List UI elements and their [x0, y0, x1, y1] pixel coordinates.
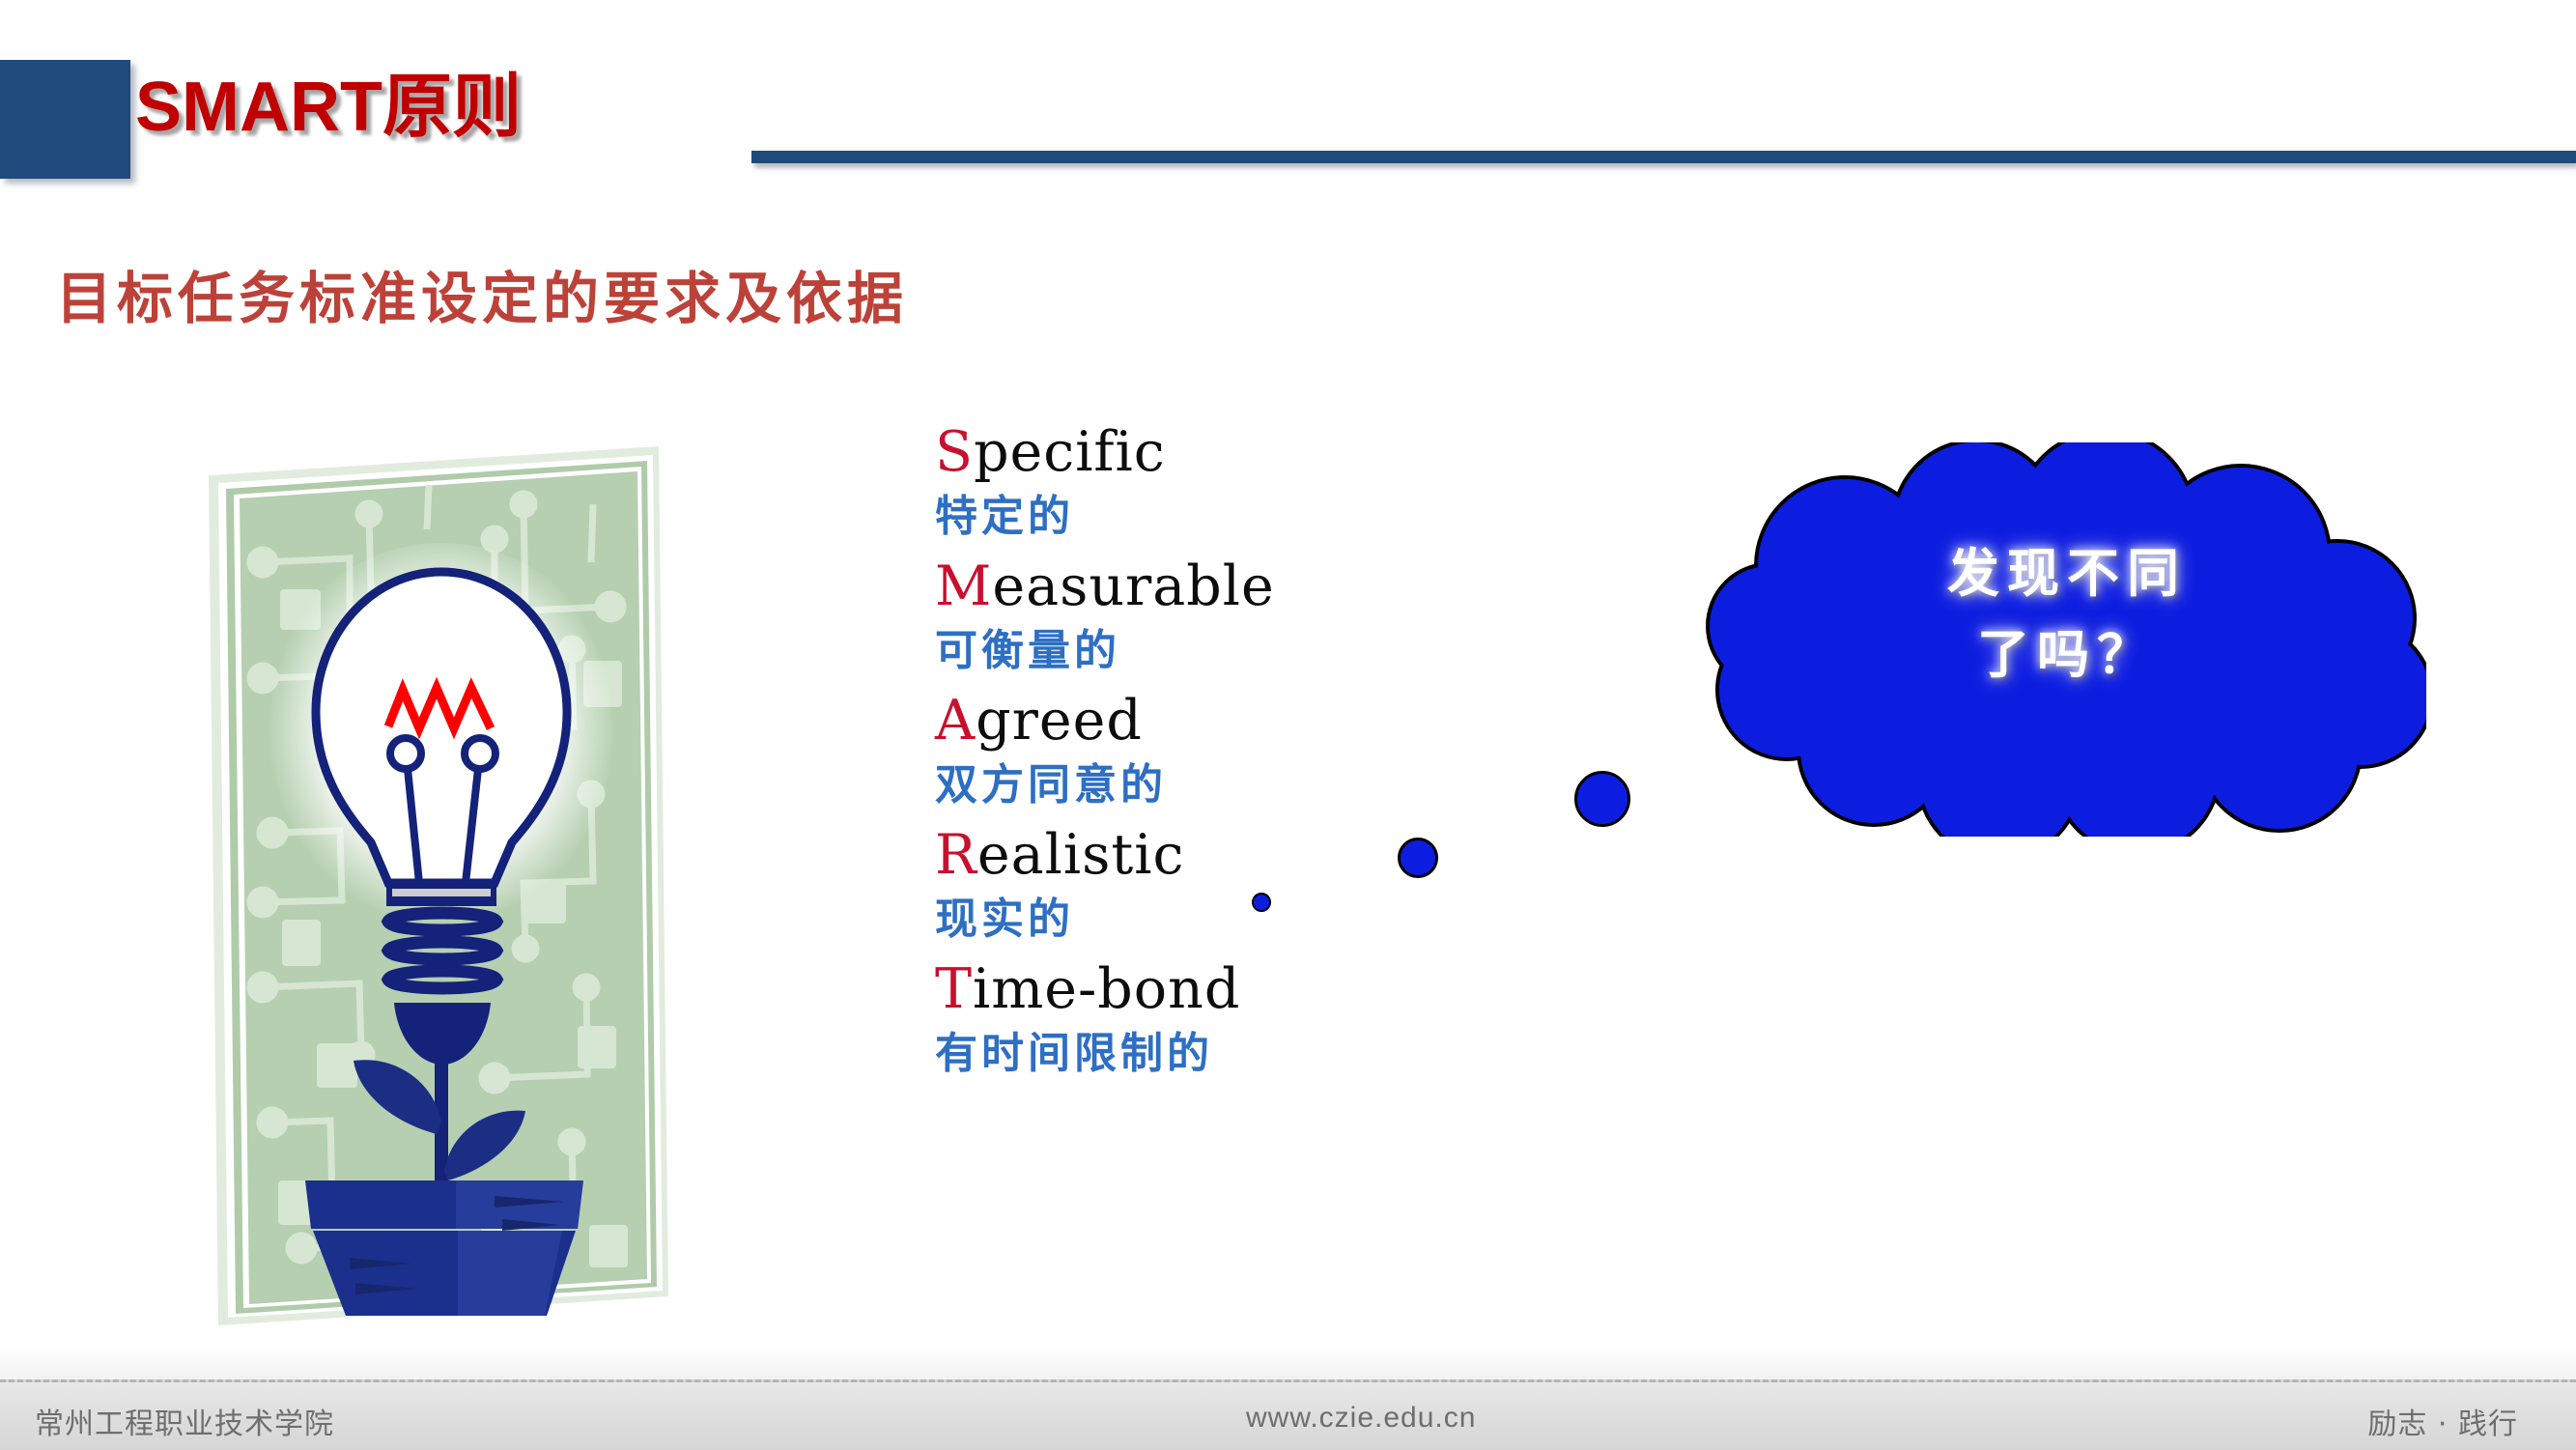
smart-item-chinese: 可衡量的 [935, 630, 1399, 672]
smart-word-rest: easurable [992, 554, 1274, 618]
smart-principle-list: Specific 特定的 Measurable 可衡量的 Agreed 双方同意… [935, 425, 1399, 1096]
footer-institution-name: 常州工程职业技术学院 [35, 1400, 334, 1442]
smart-item-chinese: 现实的 [935, 898, 1399, 941]
smart-initial-letter: R [935, 823, 977, 887]
subtitle-heading: 目标任务标准设定的要求及依据 [56, 270, 908, 327]
smart-item-chinese: 特定的 [935, 496, 1399, 538]
header-accent-square [0, 60, 130, 179]
smart-item-english: Agreed [935, 694, 1399, 749]
smart-word-rest: ime-bond [973, 957, 1240, 1021]
footer-upper-band [0, 1345, 2576, 1379]
page-title: SMART原则 [135, 72, 522, 142]
footer-website-url[interactable]: www.czie.edu.cn [1246, 1402, 1476, 1435]
smart-item-english: Specific [935, 425, 1399, 480]
smart-item-english: Time-bond [935, 962, 1399, 1017]
footer-bar: 常州工程职业技术学院 www.czie.edu.cn 励志 · 践行 [0, 1379, 2576, 1450]
smart-initial-letter: A [935, 689, 976, 753]
lightbulb-plant-illustration [205, 446, 668, 1325]
smart-word-rest: ealistic [977, 823, 1185, 887]
thought-bubble-dot-large [1574, 771, 1630, 827]
thought-bubble-dot-small [1252, 893, 1271, 912]
smart-item-chinese: 双方同意的 [935, 764, 1399, 807]
smart-item-english: Measurable [935, 559, 1399, 614]
smart-word-rest: pecific [974, 420, 1166, 484]
smart-word-rest: greed [976, 689, 1143, 753]
thought-cloud-shape [1700, 442, 2426, 837]
smart-initial-letter: S [935, 420, 974, 484]
smart-item-chinese: 有时间限制的 [935, 1033, 1399, 1075]
footer-motto: 励志 · 践行 [2367, 1400, 2518, 1442]
smart-initial-letter: T [935, 957, 973, 1021]
header-divider-rule [751, 151, 2576, 163]
smart-item-english: Realistic [935, 828, 1399, 883]
smart-initial-letter: M [935, 554, 992, 618]
thought-bubble-dot-medium [1398, 838, 1438, 878]
